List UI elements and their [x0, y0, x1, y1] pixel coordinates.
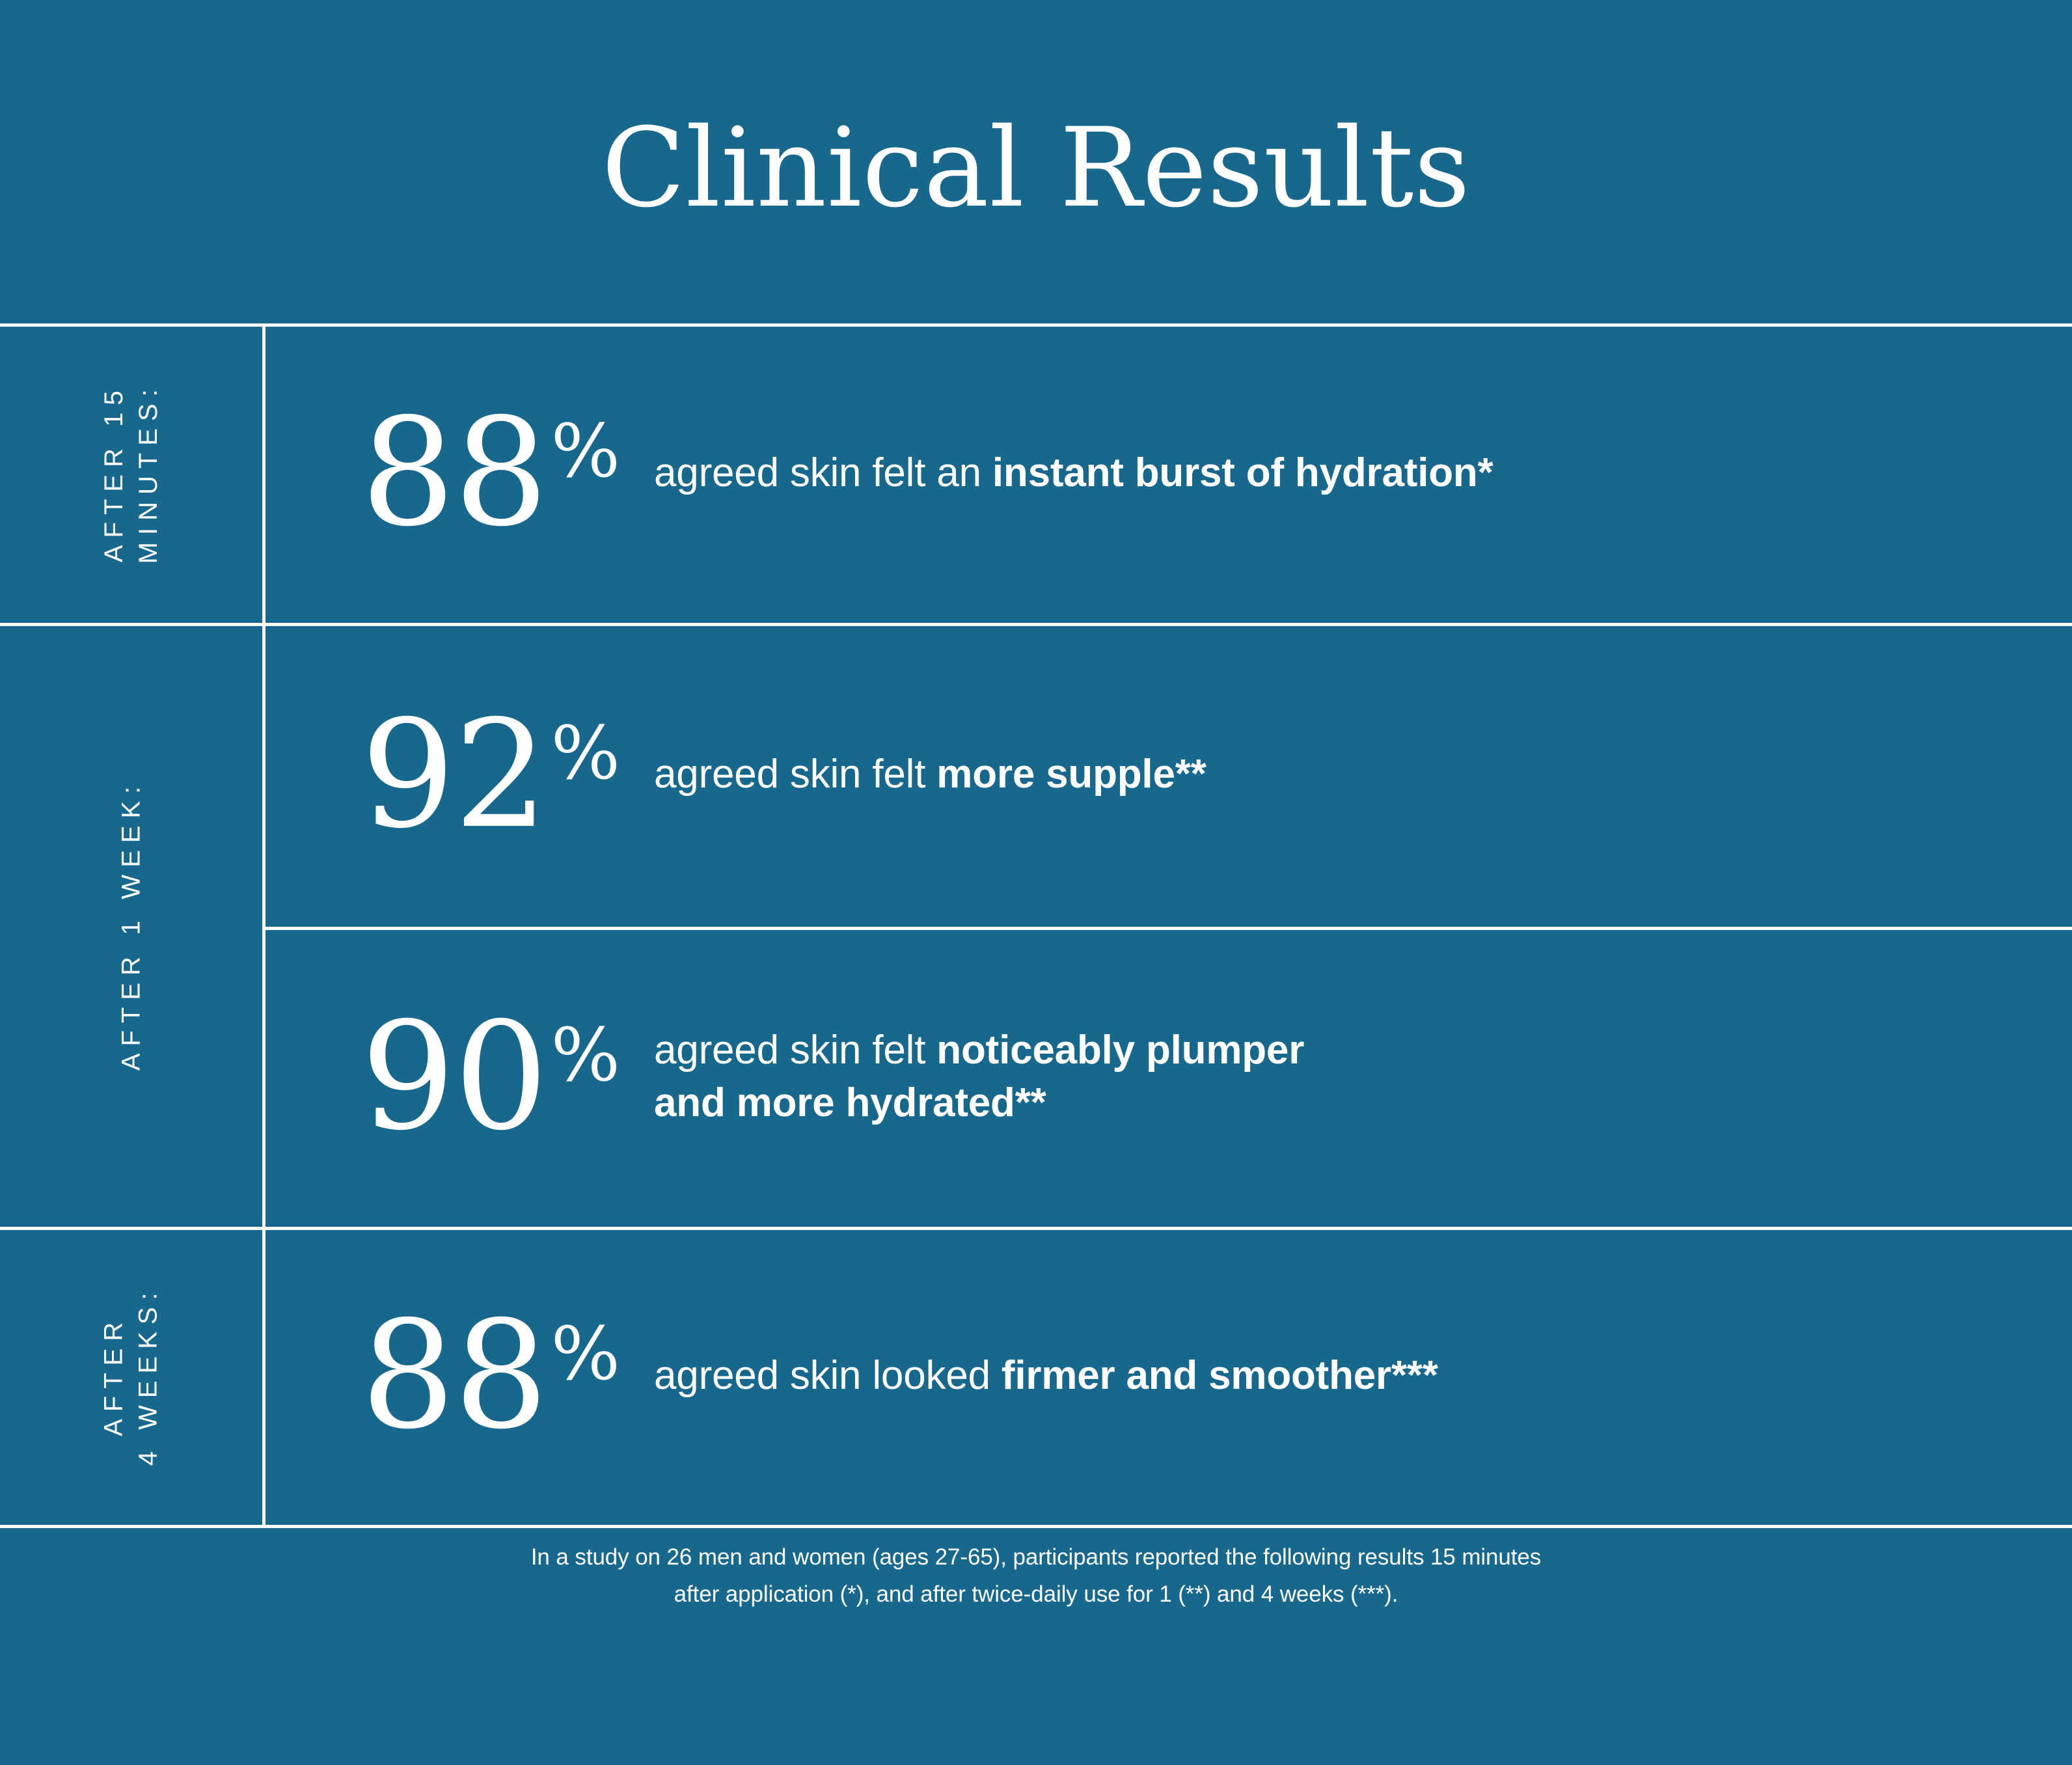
percent-sign-icon: %	[551, 1019, 620, 1092]
stat-description-lead: agreed skin felt	[654, 752, 936, 797]
divider-before-footnote	[0, 1525, 2072, 1528]
stat-row: 92 % agreed skin felt more supple**	[264, 623, 2072, 927]
group-label-after-4-weeks: AFTER 4 WEEKS:	[0, 1227, 262, 1525]
stat-value: 88	[361, 1309, 547, 1442]
stat-description: agreed skin felt more supple**	[654, 748, 2072, 801]
stat-value: 92	[361, 708, 547, 841]
group-label-line1: AFTER 1 WEEK:	[116, 779, 145, 1071]
stat-description: agreed skin looked firmer and smoother**…	[654, 1350, 2072, 1402]
group-label-line2: MINUTES:	[131, 382, 166, 564]
clinical-results-infographic: Clinical Results AFTER 15 MINUTES: AFTER…	[0, 0, 2072, 1765]
stat-description-highlight: noticeably plumper	[936, 1028, 1304, 1073]
stat-description-lead: agreed skin felt an	[654, 450, 992, 495]
stat-percentage: 88 %	[264, 406, 654, 540]
stat-percentage: 92 %	[264, 708, 654, 841]
stat-description-lead: agreed skin felt	[654, 1028, 936, 1073]
stat-row: 88 % agreed skin looked firmer and smoot…	[264, 1227, 2072, 1525]
stat-description: agreed skin felt noticeably plumper and …	[654, 1024, 2072, 1129]
percent-sign-icon: %	[551, 1318, 620, 1391]
stat-description: agreed skin felt an instant burst of hyd…	[654, 447, 2072, 500]
title-area: Clinical Results	[0, 0, 2072, 323]
group-label-line1: AFTER	[100, 1315, 128, 1436]
percent-sign-icon: %	[551, 415, 620, 488]
study-footnote: In a study on 26 men and women (ages 27-…	[0, 1539, 2072, 1613]
stat-description-highlight: firmer and smoother***	[1002, 1353, 1438, 1398]
group-label-line1: AFTER 15	[100, 384, 128, 563]
stat-row: 88 % agreed skin felt an instant burst o…	[264, 323, 2072, 623]
group-label-after-15-minutes: AFTER 15 MINUTES:	[0, 323, 262, 623]
group-label-line2: 4 WEEKS:	[131, 1286, 165, 1466]
footnote-line-2: after application (*), and after twice-d…	[0, 1576, 2072, 1613]
stat-description-highlight: more supple**	[936, 752, 1206, 797]
stat-description-highlight-line2: and more hydrated**	[654, 1080, 1046, 1125]
stat-percentage: 90 %	[264, 1010, 654, 1143]
stat-description-lead: agreed skin looked	[654, 1353, 1002, 1398]
percent-sign-icon: %	[551, 717, 620, 790]
group-label-after-1-week: AFTER 1 WEEK:	[0, 623, 262, 1227]
stat-description-highlight: instant burst of hydration*	[992, 450, 1493, 495]
footnote-line-1: In a study on 26 men and women (ages 27-…	[0, 1539, 2072, 1576]
stat-value: 88	[361, 406, 547, 540]
page-title: Clinical Results	[601, 113, 1470, 223]
stat-row: 90 % agreed skin felt noticeably plumper…	[264, 927, 2072, 1227]
stat-value: 90	[361, 1010, 547, 1143]
stat-percentage: 88 %	[264, 1309, 654, 1442]
